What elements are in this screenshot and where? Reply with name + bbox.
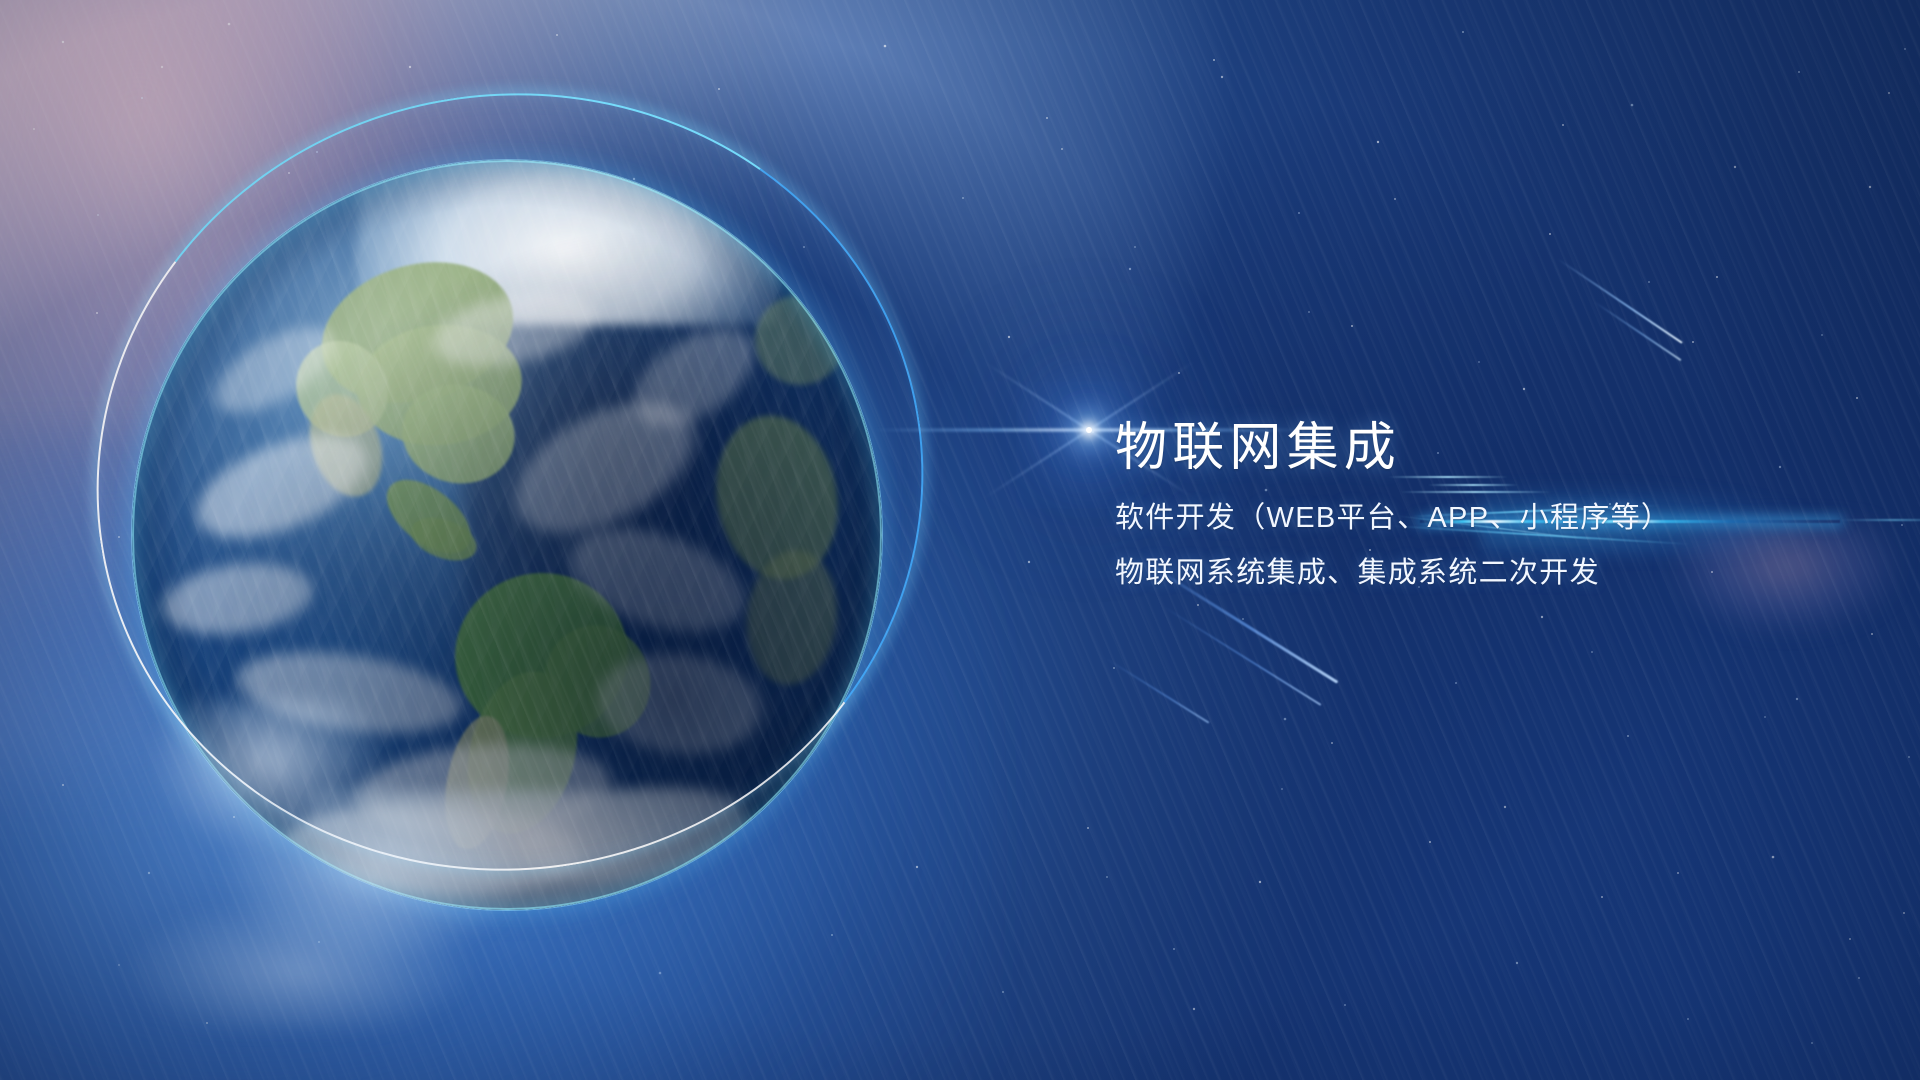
globe-sphere: [132, 160, 882, 910]
globe-atmosphere-rim: [132, 160, 882, 910]
hero-banner: 物联网集成 软件开发（WEB平台、APP、小程序等） 物联网系统集成、集成系统二…: [0, 0, 1920, 1080]
earth-globe: [132, 160, 882, 910]
